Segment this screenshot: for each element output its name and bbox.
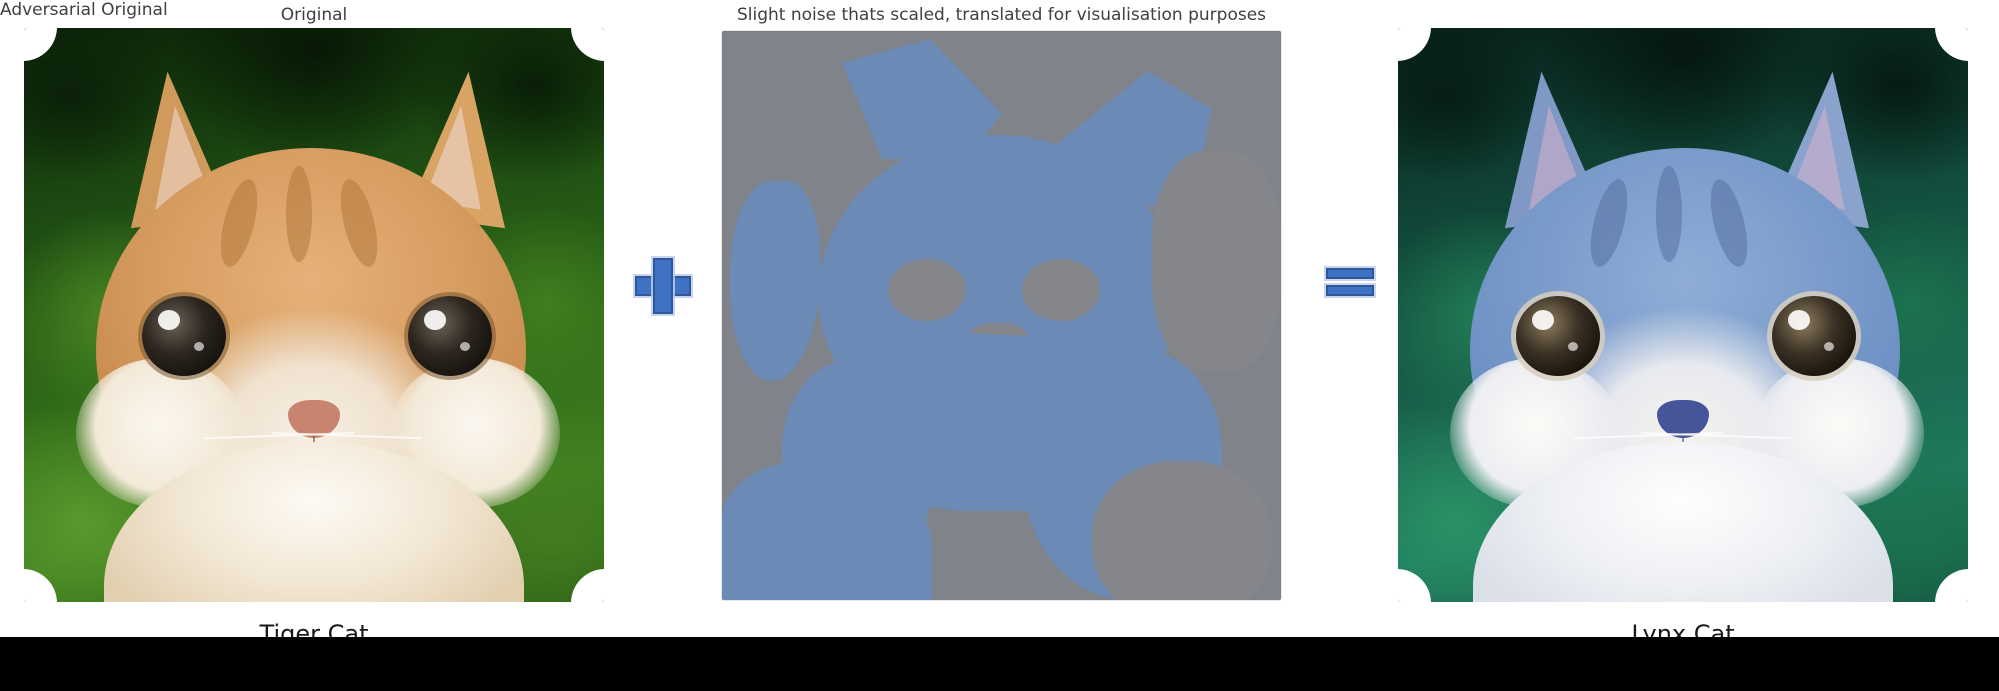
- eye-glint: [158, 310, 180, 330]
- cat-eye-left: [1516, 296, 1600, 376]
- perturbation-image: [722, 31, 1281, 600]
- plus-bar-vertical: [653, 258, 673, 314]
- noise-eye-left: [888, 259, 966, 321]
- forehead-stripe: [286, 166, 312, 262]
- cat-eye-right: [408, 296, 492, 376]
- eye-glint: [1532, 310, 1554, 330]
- eye-glint: [424, 310, 446, 330]
- equals-bar-bottom: [1326, 285, 1374, 296]
- image-panel-adversarial: [1398, 28, 1968, 602]
- kitten-adversarial-image: [1398, 28, 1968, 602]
- eye-glint: [1788, 310, 1810, 330]
- eye-glint: [1824, 342, 1834, 351]
- forehead-stripe: [1656, 166, 1682, 262]
- noise-gray-patch: [1152, 151, 1282, 371]
- noise-edge-left: [730, 181, 820, 381]
- noise-gray-patch: [1092, 461, 1272, 601]
- equals-bar-top: [1326, 268, 1374, 279]
- eye-glint: [1568, 342, 1578, 351]
- eye-glint: [460, 342, 470, 351]
- cat-eye-right: [1772, 296, 1856, 376]
- panel-title-noise: Slight noise thats scaled, translated fo…: [721, 5, 1282, 25]
- image-panel-noise: [721, 30, 1282, 601]
- figure-canvas: Original Slight noise thats scaled, tran…: [0, 0, 1999, 691]
- panel-title-adversarial: Adversarial Original: [0, 0, 168, 20]
- cat-eye-left: [142, 296, 226, 376]
- plus-operator-icon: [635, 258, 691, 314]
- letterbox-bar: [0, 637, 1999, 691]
- image-panel-original: [24, 28, 604, 602]
- eye-glint: [194, 342, 204, 351]
- kitten-original-image: [24, 28, 604, 602]
- equals-operator-icon: [1326, 268, 1374, 296]
- noise-eye-right: [1022, 259, 1100, 321]
